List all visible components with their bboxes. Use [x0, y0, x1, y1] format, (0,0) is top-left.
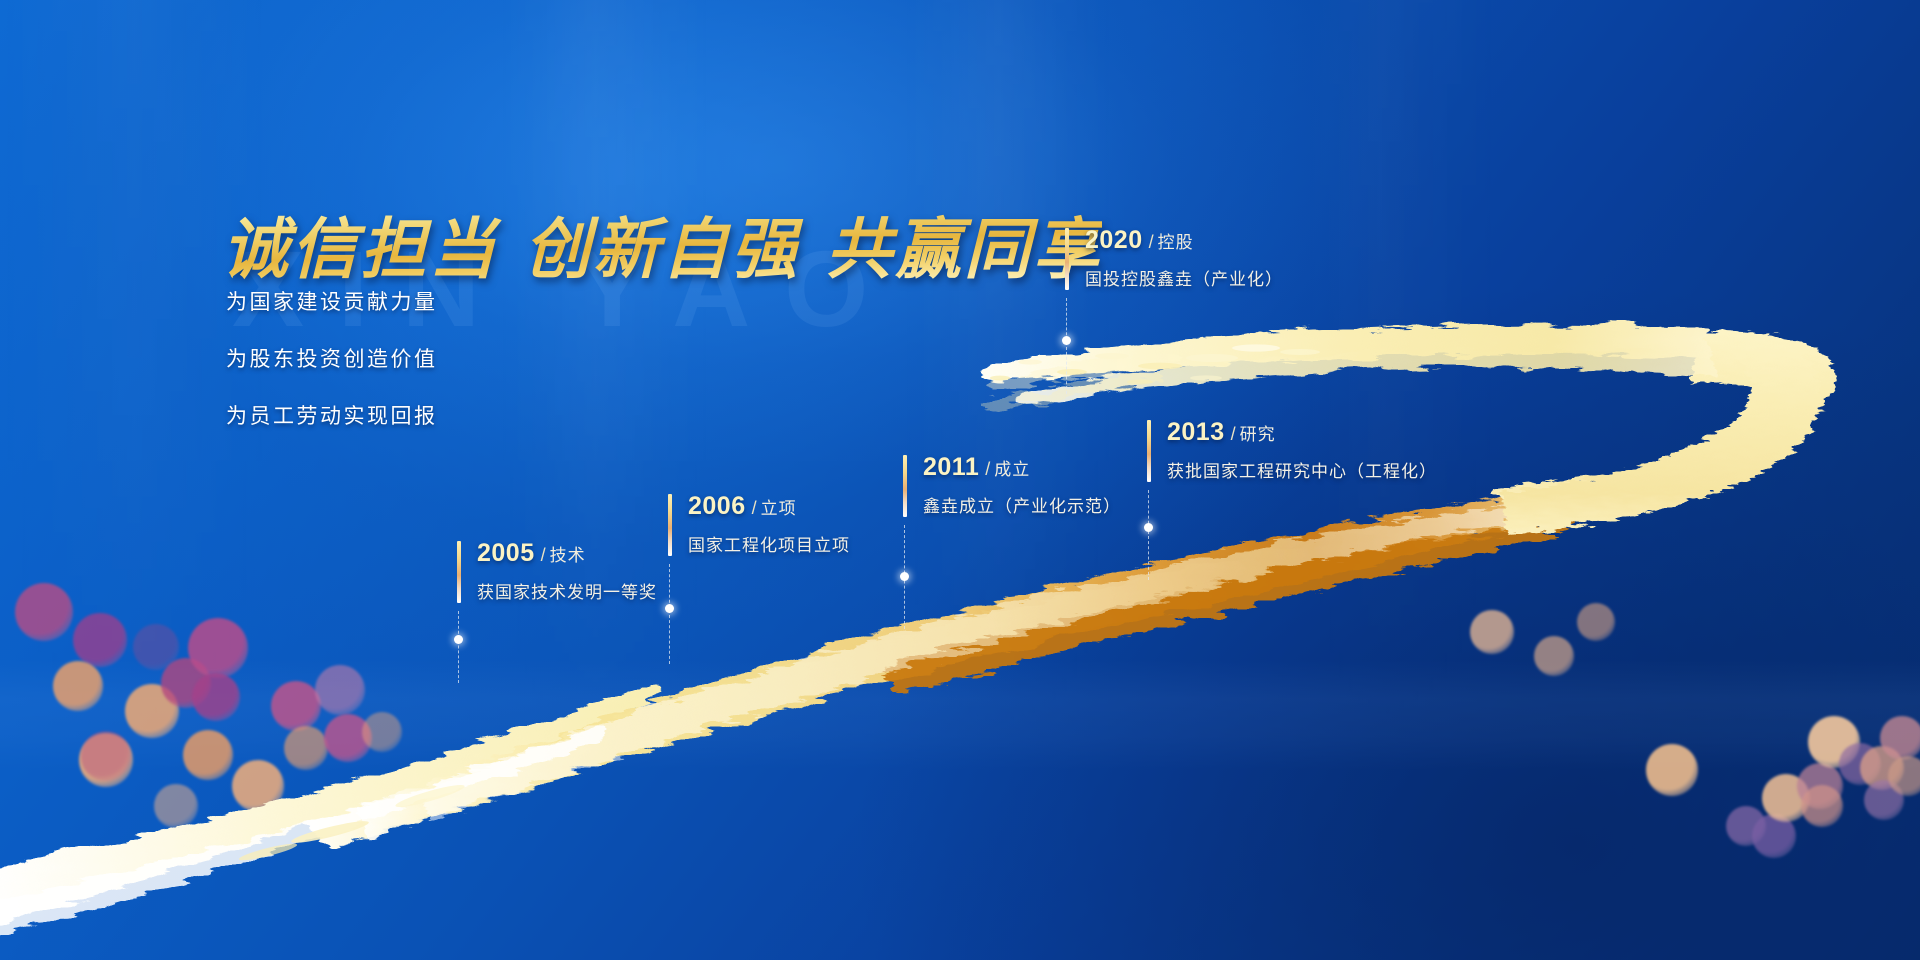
bokeh-circle: [192, 673, 240, 721]
milestone-description: 获批国家工程研究中心（工程化）: [1167, 457, 1437, 482]
bokeh-circle: [81, 731, 131, 781]
bokeh-circle: [284, 726, 328, 770]
subtitle-line: 为员工劳动实现回报: [226, 400, 438, 430]
headline-part-3: 共赢同享: [826, 212, 1102, 286]
horizontal-light-band: [0, 660, 1920, 770]
milestone-separator: /: [1149, 232, 1154, 252]
bokeh-circle: [1534, 636, 1574, 676]
page-title: 诚信担当创新自强共赢同享: [222, 196, 1102, 292]
milestone-dot: [900, 572, 909, 581]
bokeh-circle: [1808, 716, 1860, 768]
milestone-dot: [665, 604, 674, 613]
bokeh-circle: [79, 733, 133, 787]
bokeh-circle: [188, 618, 248, 678]
milestone-dot: [1062, 336, 1071, 345]
bokeh-circle: [1762, 774, 1810, 822]
bokeh-circle: [1470, 610, 1514, 654]
milestone-description: 国投控股鑫垚（产业化）: [1085, 265, 1283, 290]
subtitle-line: 为股东投资创造价值: [226, 343, 438, 373]
milestone-description: 国家工程化项目立项: [688, 531, 850, 556]
bokeh-circle: [232, 760, 284, 812]
milestone-dot: [454, 635, 463, 644]
milestone-accent-bar: [668, 494, 672, 556]
bokeh-circle: [1752, 814, 1796, 858]
milestone-text-block: 2011/成立鑫垚成立（产业化示范）: [923, 453, 1121, 517]
milestone-description: 鑫垚成立（产业化示范）: [923, 492, 1121, 517]
milestone-separator: /: [752, 498, 757, 518]
milestone-category: 研究: [1240, 425, 1276, 444]
bokeh-circle: [1860, 746, 1904, 790]
bokeh-circle: [362, 712, 402, 752]
bokeh-circle: [161, 658, 211, 708]
milestone-connector-line: [669, 564, 670, 664]
bokeh-circle: [1797, 763, 1843, 809]
bokeh-circle: [15, 583, 73, 641]
bokeh-circle: [53, 661, 103, 711]
headline-part-2: 创新自强: [524, 212, 800, 286]
bokeh-circle: [1646, 744, 1698, 796]
milestone-year: 2011: [923, 453, 979, 481]
milestone-category: 技术: [550, 546, 586, 565]
bokeh-circle: [1888, 756, 1920, 796]
milestone-category: 控股: [1158, 233, 1194, 252]
bokeh-circle: [1839, 743, 1881, 785]
bokeh-circle: [1801, 785, 1843, 827]
bokeh-circle: [73, 613, 127, 667]
milestone-separator: /: [541, 545, 546, 565]
milestone-connector-line: [1148, 490, 1149, 580]
milestone-year: 2006: [688, 492, 746, 520]
milestone-accent-bar: [457, 541, 461, 603]
headline-part-1: 诚信担当: [222, 212, 498, 286]
milestone-text-block: 2006/立项国家工程化项目立项: [688, 492, 850, 556]
bokeh-circle: [324, 714, 372, 762]
milestone-connector-line: [458, 611, 459, 683]
bokeh-circle: [1880, 716, 1920, 760]
subtitle-line: 为国家建设贡献力量: [226, 286, 438, 316]
milestone-connector-line: [1066, 298, 1067, 394]
milestone-accent-bar: [1147, 420, 1151, 482]
banner-canvas: XIN YAO 诚信担当创新自强共赢同享 为国家建设贡献力量 为股东投资创造价值…: [0, 0, 1920, 960]
bokeh-circle: [1726, 806, 1766, 846]
milestone-category: 立项: [761, 499, 797, 518]
milestone-accent-bar: [903, 455, 907, 517]
milestone-dot: [1144, 523, 1153, 532]
bokeh-circle: [133, 624, 179, 670]
bokeh-circle: [1577, 603, 1615, 641]
milestone-separator: /: [985, 459, 990, 479]
milestone-separator: /: [1231, 424, 1236, 444]
bokeh-circle: [1864, 780, 1904, 820]
milestone-accent-bar: [1065, 228, 1069, 290]
subtitle-list: 为国家建设贡献力量 为股东投资创造价值 为员工劳动实现回报: [226, 286, 438, 457]
milestone-year: 2013: [1167, 418, 1225, 446]
bokeh-circle: [271, 681, 321, 731]
milestone-category: 成立: [994, 460, 1030, 479]
milestone-text-block: 2020/控股国投控股鑫垚（产业化）: [1085, 226, 1283, 290]
milestone-year: 2020: [1085, 226, 1143, 254]
milestone-text-block: 2013/研究获批国家工程研究中心（工程化）: [1167, 418, 1437, 482]
bokeh-circle: [315, 665, 365, 715]
milestone-description: 获国家技术发明一等奖: [477, 578, 657, 603]
bokeh-circle: [183, 730, 233, 780]
milestone-year: 2005: [477, 539, 535, 567]
milestone-text-block: 2005/技术获国家技术发明一等奖: [477, 539, 657, 603]
bokeh-circle: [154, 784, 198, 828]
bokeh-circle: [125, 684, 179, 738]
